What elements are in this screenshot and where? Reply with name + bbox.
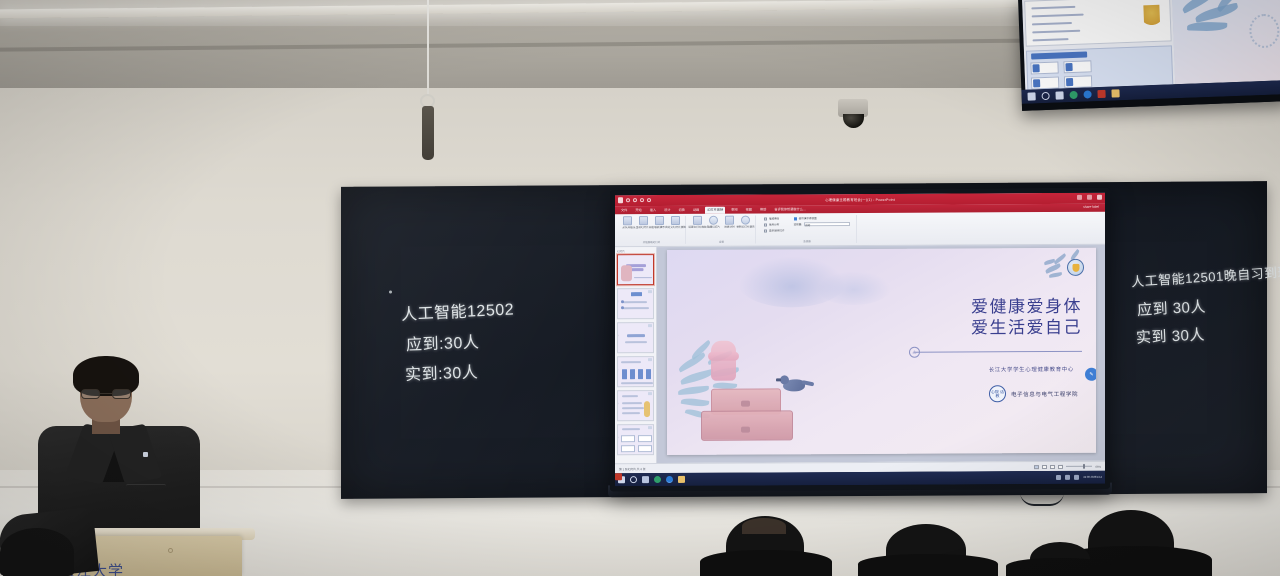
- left-note-line-1: 人工智能12502: [401, 295, 515, 324]
- search-icon[interactable]: [1041, 92, 1049, 100]
- flower-graphic: [1143, 5, 1160, 32]
- classroom-scene: 人工智能12502 应到:30人 实到:30人 人工智能12501晚自习到班情况…: [0, 0, 1280, 576]
- hanging-cable: [427, 0, 429, 96]
- hanging-microphone-icon: [422, 106, 434, 160]
- audience-shoulders-2: [858, 554, 998, 576]
- audience-shoulders-4: [1006, 558, 1112, 576]
- presenter-pocket: [126, 484, 166, 500]
- chalk-mark: [389, 291, 392, 294]
- folder-icon[interactable]: [1111, 89, 1119, 97]
- podium-fastener: [168, 548, 173, 553]
- secondary-right-pane: [1172, 0, 1280, 84]
- secondary-slide-card: [1024, 0, 1172, 47]
- secondary-display-screen[interactable]: [1022, 0, 1280, 90]
- powerpoint-icon[interactable]: [1097, 90, 1105, 98]
- audience-hair-highlight: [742, 518, 786, 534]
- left-note-line-2: 应到:30人: [406, 327, 515, 355]
- browser-icon[interactable]: [1083, 90, 1091, 98]
- blackboard-right-notes: 人工智能12501晚自习到班情况 应到 30人 实到 30人: [1131, 265, 1280, 344]
- smart-board-bezel: [610, 188, 1110, 492]
- right-note-line-3: 实到 30人: [1136, 318, 1280, 348]
- blackboard-left-notes: 人工智能12502 应到:30人 实到:30人: [401, 298, 514, 384]
- secondary-left-pane: [1022, 0, 1175, 90]
- secondary-grid-panel: [1026, 45, 1173, 89]
- start-button[interactable]: [1027, 92, 1035, 100]
- glasses-icon: [81, 389, 131, 399]
- right-note-line-1: 人工智能12501晚自习到班情况: [1131, 259, 1280, 290]
- audience-shoulders-1: [700, 550, 832, 576]
- wechat-icon[interactable]: [1069, 91, 1077, 99]
- presenter-badge: [143, 452, 148, 457]
- smart-board-display[interactable]: 心理健康主题教育班会(一)(1) - PowerPoint 文件 开始 插入 设…: [610, 188, 1110, 492]
- left-note-line-3: 实到:30人: [405, 357, 515, 385]
- audience-head-5: [0, 528, 74, 576]
- right-note-line-2: 应到 30人: [1137, 290, 1280, 320]
- task-view-icon[interactable]: [1055, 91, 1063, 99]
- secondary-display[interactable]: [1018, 0, 1280, 111]
